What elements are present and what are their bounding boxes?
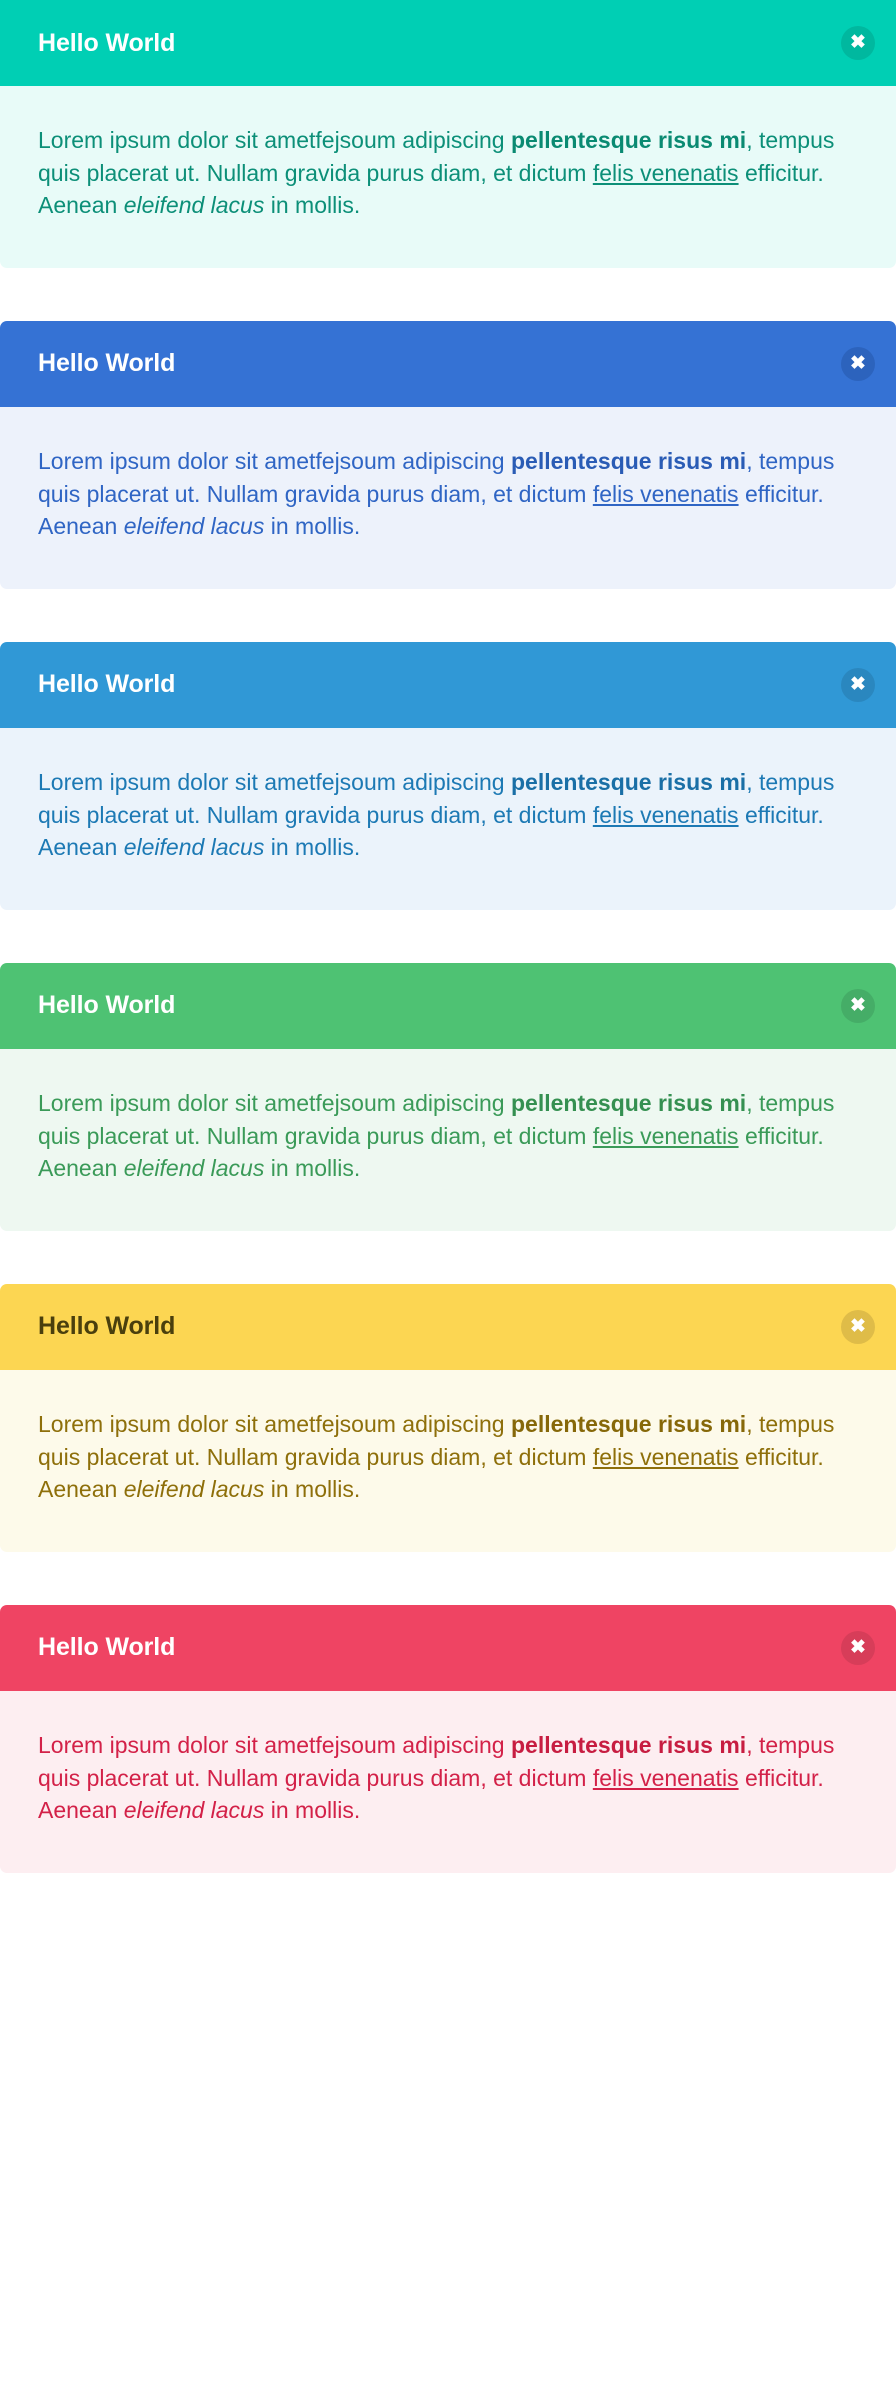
body-text-link[interactable]: felis venenatis (593, 160, 739, 186)
body-text-italic: eleifend lacus (124, 1155, 265, 1181)
alert-header: Hello World✖ (0, 963, 896, 1049)
body-text-tail: in mollis. (264, 192, 360, 218)
close-button[interactable]: ✖ (841, 347, 875, 381)
alert-stack: Hello World✖Lorem ipsum dolor sit ametfe… (0, 0, 896, 1873)
alert-body-paragraph: Lorem ipsum dolor sit ametfejsoum adipis… (38, 445, 858, 543)
close-icon: ✖ (850, 1638, 866, 1657)
close-button[interactable]: ✖ (841, 26, 875, 60)
body-text-tail: in mollis. (264, 1797, 360, 1823)
body-text-link[interactable]: felis venenatis (593, 802, 739, 828)
alert-body: Lorem ipsum dolor sit ametfejsoum adipis… (0, 1049, 896, 1231)
alert-title: Hello World (38, 672, 175, 697)
alert-body-paragraph: Lorem ipsum dolor sit ametfejsoum adipis… (38, 1729, 858, 1827)
alert-teal: Hello World✖Lorem ipsum dolor sit ametfe… (0, 0, 896, 268)
alert-header: Hello World✖ (0, 642, 896, 728)
alert-body: Lorem ipsum dolor sit ametfejsoum adipis… (0, 728, 896, 910)
alert-body-paragraph: Lorem ipsum dolor sit ametfejsoum adipis… (38, 124, 858, 222)
close-icon: ✖ (850, 354, 866, 373)
body-text-italic: eleifend lacus (124, 192, 265, 218)
alert-body: Lorem ipsum dolor sit ametfejsoum adipis… (0, 86, 896, 268)
body-text-lead: Lorem ipsum dolor sit ametfejsoum adipis… (38, 769, 511, 795)
alert-green: Hello World✖Lorem ipsum dolor sit ametfe… (0, 963, 896, 1231)
alert-red: Hello World✖Lorem ipsum dolor sit ametfe… (0, 1605, 896, 1873)
close-icon: ✖ (850, 996, 866, 1015)
body-text-bold: pellentesque risus mi (511, 1732, 746, 1758)
close-button[interactable]: ✖ (841, 668, 875, 702)
alert-title: Hello World (38, 993, 175, 1018)
alert-title: Hello World (38, 1635, 175, 1660)
body-text-lead: Lorem ipsum dolor sit ametfejsoum adipis… (38, 127, 511, 153)
body-text-bold: pellentesque risus mi (511, 127, 746, 153)
body-text-tail: in mollis. (264, 1155, 360, 1181)
alert-header: Hello World✖ (0, 321, 896, 407)
close-button[interactable]: ✖ (841, 989, 875, 1023)
body-text-tail: in mollis. (264, 834, 360, 860)
body-text-tail: in mollis. (264, 1476, 360, 1502)
alert-title: Hello World (38, 31, 175, 56)
alert-header: Hello World✖ (0, 1605, 896, 1691)
body-text-lead: Lorem ipsum dolor sit ametfejsoum adipis… (38, 448, 511, 474)
alert-body-paragraph: Lorem ipsum dolor sit ametfejsoum adipis… (38, 766, 858, 864)
alert-yellow: Hello World✖Lorem ipsum dolor sit ametfe… (0, 1284, 896, 1552)
close-button[interactable]: ✖ (841, 1631, 875, 1665)
body-text-bold: pellentesque risus mi (511, 1411, 746, 1437)
body-text-link[interactable]: felis venenatis (593, 1123, 739, 1149)
alert-body: Lorem ipsum dolor sit ametfejsoum adipis… (0, 407, 896, 589)
body-text-bold: pellentesque risus mi (511, 448, 746, 474)
body-text-lead: Lorem ipsum dolor sit ametfejsoum adipis… (38, 1090, 511, 1116)
close-button[interactable]: ✖ (841, 1310, 875, 1344)
close-icon: ✖ (850, 33, 866, 52)
close-icon: ✖ (850, 675, 866, 694)
body-text-italic: eleifend lacus (124, 513, 265, 539)
alert-title: Hello World (38, 351, 175, 376)
alert-info: Hello World✖Lorem ipsum dolor sit ametfe… (0, 642, 896, 910)
body-text-link[interactable]: felis venenatis (593, 481, 739, 507)
alert-title: Hello World (38, 1314, 175, 1339)
body-text-italic: eleifend lacus (124, 834, 265, 860)
close-icon: ✖ (850, 1317, 866, 1336)
alert-blue: Hello World✖Lorem ipsum dolor sit ametfe… (0, 321, 896, 589)
body-text-italic: eleifend lacus (124, 1476, 265, 1502)
body-text-italic: eleifend lacus (124, 1797, 265, 1823)
body-text-bold: pellentesque risus mi (511, 1090, 746, 1116)
alert-body: Lorem ipsum dolor sit ametfejsoum adipis… (0, 1691, 896, 1873)
body-text-bold: pellentesque risus mi (511, 769, 746, 795)
alert-header: Hello World✖ (0, 1284, 896, 1370)
body-text-link[interactable]: felis venenatis (593, 1765, 739, 1791)
alert-body-paragraph: Lorem ipsum dolor sit ametfejsoum adipis… (38, 1408, 858, 1506)
alert-header: Hello World✖ (0, 0, 896, 86)
body-text-tail: in mollis. (264, 513, 360, 539)
body-text-lead: Lorem ipsum dolor sit ametfejsoum adipis… (38, 1411, 511, 1437)
body-text-link[interactable]: felis venenatis (593, 1444, 739, 1470)
alert-body-paragraph: Lorem ipsum dolor sit ametfejsoum adipis… (38, 1087, 858, 1185)
body-text-lead: Lorem ipsum dolor sit ametfejsoum adipis… (38, 1732, 511, 1758)
alert-body: Lorem ipsum dolor sit ametfejsoum adipis… (0, 1370, 896, 1552)
